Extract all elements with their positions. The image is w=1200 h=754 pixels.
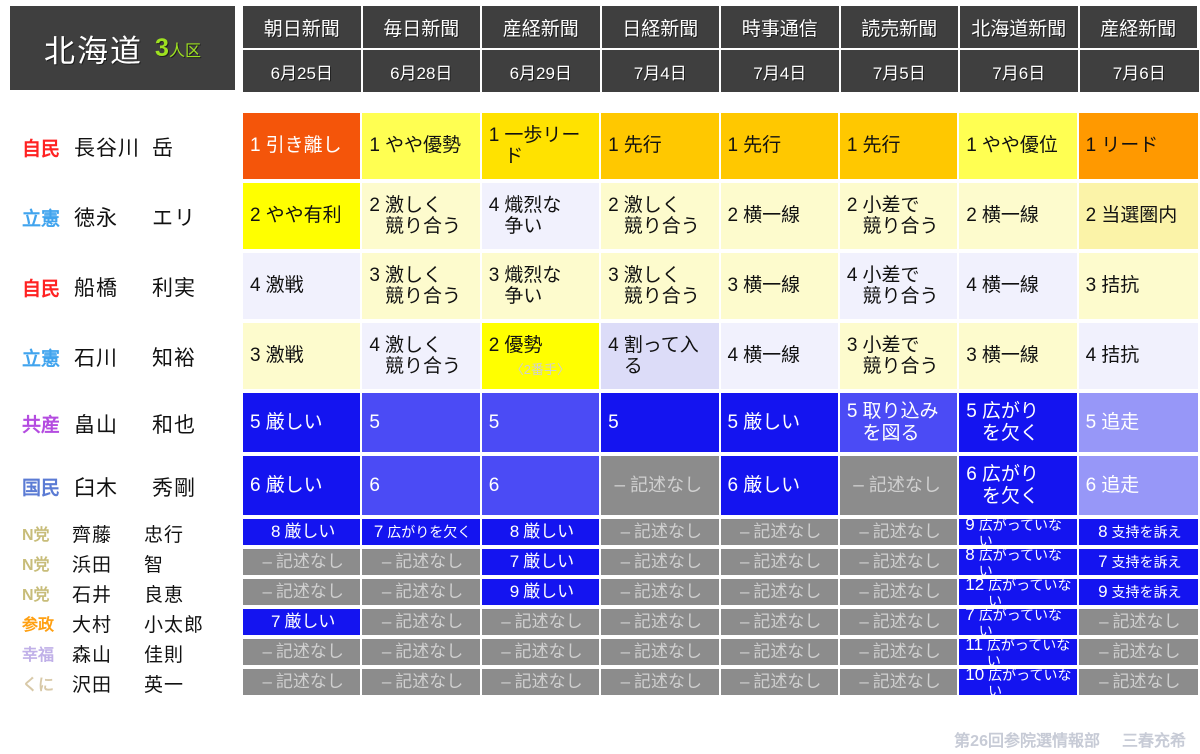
cell-rank: 3	[250, 345, 261, 367]
cell-rank: –	[740, 642, 749, 662]
cell-rank: 1	[847, 135, 858, 157]
cell-rank: –	[740, 552, 749, 572]
poll-cell-r5-c7[interactable]: 6追走	[1079, 456, 1198, 517]
cell-rank: 1	[489, 125, 500, 147]
cell-rank: –	[501, 642, 510, 662]
cell-rank: –	[615, 475, 626, 497]
poll-cell-r9-c3[interactable]: –記述なし	[601, 609, 720, 637]
cell-text: 支持を訴え	[1112, 525, 1182, 541]
cell-text: 広がっていない	[979, 549, 1074, 577]
poll-cell-r10-c2[interactable]: –記述なし	[482, 639, 601, 667]
poll-cell-r7-c2[interactable]: 7厳しい	[482, 549, 601, 577]
cell-text: 記述なし	[395, 612, 463, 631]
cell-text: 支持を訴え	[1112, 585, 1182, 601]
cell-rank: 12	[965, 579, 984, 595]
candidate-givenname: 秀剛	[152, 472, 196, 502]
column-header-date-5: 7月5日	[841, 50, 961, 92]
poll-cell-r6-c3[interactable]: –記述なし	[601, 519, 720, 547]
cell-rank: 2	[847, 195, 858, 217]
poll-cell-r3-c2[interactable]: 2優勢〈2番手〉	[482, 323, 601, 391]
cell-text: 激しく競り合う	[624, 265, 700, 308]
party-label: 自民	[22, 274, 74, 301]
poll-cell-r9-c6[interactable]: 7広がっていない	[959, 609, 1078, 637]
cell-rank: 6	[250, 475, 261, 497]
candidate-givenname: エリ	[152, 202, 196, 232]
cell-text: 横一線	[982, 345, 1039, 366]
cell-rank: 5	[369, 412, 380, 434]
party-label: 幸福	[22, 641, 72, 665]
cell-text: 記述なし	[276, 582, 344, 601]
cell-text: 横一線	[743, 205, 800, 226]
column-header-date-6: 7月6日	[960, 50, 1080, 92]
poll-cell-r4-c2[interactable]: 5	[482, 393, 601, 454]
cell-rank: 4	[847, 265, 858, 287]
column-header-paper-6: 北海道新聞	[960, 6, 1080, 50]
poll-cell-r3-c3[interactable]: 4割って入る	[601, 323, 720, 391]
poll-cell-r7-c4[interactable]: –記述なし	[721, 549, 840, 577]
candidate-givenname: 良恵	[144, 580, 184, 607]
cell-rank: –	[621, 582, 630, 602]
poll-cell-r3-c0[interactable]: 3激戦	[243, 323, 362, 391]
poll-cell-r6-c5[interactable]: –記述なし	[840, 519, 959, 547]
poll-cell-r3-c1[interactable]: 4激しく競り合う	[362, 323, 481, 391]
poll-cell-r5-c0[interactable]: 6厳しい	[243, 456, 362, 517]
poll-cell-r4-c6[interactable]: 5広がりを欠く	[959, 393, 1078, 454]
cell-rank: –	[740, 582, 749, 602]
cell-rank: –	[262, 672, 271, 692]
cell-text: 記述なし	[634, 552, 702, 571]
poll-cell-r4-c1[interactable]: 5	[362, 393, 481, 454]
cell-text: 記述なし	[634, 522, 702, 541]
cell-rank: –	[262, 642, 271, 662]
poll-cell-r8-c2[interactable]: 9厳しい	[482, 579, 601, 607]
cell-text: 記述なし	[634, 672, 702, 691]
cell-rank: 5	[1086, 412, 1097, 434]
cell-rank: –	[262, 582, 271, 602]
poll-cell-r4-c7[interactable]: 5追走	[1079, 393, 1198, 454]
column-header-date-1: 6月28日	[363, 50, 483, 92]
poll-cell-r0-c0[interactable]: 1引き離し	[243, 113, 362, 181]
cell-text: 一歩リード	[504, 125, 596, 168]
column-header-date-3: 7月4日	[602, 50, 722, 92]
cell-text: 先行	[862, 135, 900, 156]
poll-cell-r11-c5[interactable]: –記述なし	[840, 669, 959, 697]
cell-rank: 3	[728, 275, 739, 297]
party-label: 参政	[22, 611, 72, 635]
cell-text: 記述なし	[634, 582, 702, 601]
poll-cell-r6-c2[interactable]: 8厳しい	[482, 519, 601, 547]
poll-cell-r11-c6[interactable]: 10広がっていない	[959, 669, 1078, 697]
poll-cell-r4-c5[interactable]: 5取り込みを図る	[840, 393, 959, 454]
footer-author-label: 三春充希	[1122, 727, 1186, 751]
cell-rank: 5	[728, 412, 739, 434]
poll-cell-r8-c5[interactable]: –記述なし	[840, 579, 959, 607]
cell-rank: –	[1099, 612, 1108, 632]
cell-text: 記述なし	[630, 475, 702, 495]
cell-text: 当選圏内	[1101, 205, 1177, 226]
cell-rank: –	[382, 552, 391, 572]
poll-cell-r8-c1[interactable]: –記述なし	[362, 579, 481, 607]
cell-text: 優勢	[504, 335, 542, 356]
footer-source-label: 第26回参院選情報部	[954, 727, 1100, 751]
column-header-paper-5: 読売新聞	[841, 6, 961, 50]
candidate-surname: 畠山	[74, 409, 152, 439]
candidate-row-1: 立憲徳永エリ	[0, 183, 243, 251]
table-row: 2やや有利2激しく競り合う4熾烈な争い2激しく競り合う2横一線2小差で競り合う2…	[243, 183, 1198, 251]
cell-text: 横一線	[982, 275, 1039, 296]
poll-cell-r10-c1[interactable]: –記述なし	[362, 639, 481, 667]
column-header-paper-0: 朝日新聞	[243, 6, 363, 50]
poll-cell-r2-c6[interactable]: 4横一線	[959, 253, 1078, 321]
cell-rank: 7	[1098, 552, 1107, 572]
cell-rank: 9	[1098, 582, 1107, 602]
poll-cell-r4-c4[interactable]: 5厳しい	[721, 393, 840, 454]
cell-rank: –	[740, 522, 749, 542]
cell-text: 記述なし	[515, 672, 583, 691]
cell-text: 小差で競り合う	[862, 195, 938, 238]
poll-cell-r5-c3[interactable]: –記述なし	[601, 456, 720, 517]
poll-cell-r7-c7[interactable]: 7支持を訴え	[1079, 549, 1198, 577]
poll-cell-r7-c3[interactable]: –記述なし	[601, 549, 720, 577]
cell-text: 記述なし	[753, 642, 821, 661]
cell-rank: 8	[965, 549, 974, 565]
cell-text: 広がりを欠く	[982, 401, 1039, 444]
cell-text: 記述なし	[276, 672, 344, 691]
poll-cell-r0-c2[interactable]: 1一歩リード	[482, 113, 601, 181]
cell-rank: 2	[966, 205, 977, 227]
cell-text: 激しく競り合う	[385, 195, 461, 238]
table-header: 朝日新聞毎日新聞産経新聞日経新聞時事通信読売新聞北海道新聞産経新聞6月25日6月…	[243, 6, 1199, 92]
table-row: 5厳しい5555厳しい5取り込みを図る5広がりを欠く5追走	[243, 393, 1198, 454]
cell-text: 記述なし	[873, 612, 941, 631]
candidate-surname: 徳永	[74, 202, 152, 232]
cell-rank: 6	[489, 475, 500, 497]
poll-cell-r11-c7[interactable]: –記述なし	[1079, 669, 1198, 697]
poll-cell-r5-c6[interactable]: 6広がりを欠く	[959, 456, 1078, 517]
table-row: 7厳しい–記述なし–記述なし–記述なし–記述なし–記述なし7広がっていない–記述…	[243, 609, 1198, 637]
table-row: 6厳しい66–記述なし6厳しい–記述なし6広がりを欠く6追走	[243, 456, 1198, 517]
cell-rank: 1	[728, 135, 739, 157]
cell-rank: 7	[271, 612, 280, 632]
poll-cell-r2-c7[interactable]: 3拮抗	[1079, 253, 1198, 321]
cell-text: 記述なし	[395, 552, 463, 571]
cell-rank: 3	[1086, 275, 1097, 297]
poll-cell-r5-c2[interactable]: 6	[482, 456, 601, 517]
poll-cell-r6-c4[interactable]: –記述なし	[721, 519, 840, 547]
cell-rank: 1	[250, 135, 261, 157]
cell-text: 拮抗	[1101, 275, 1139, 296]
cell-text: やや優勢	[385, 135, 461, 156]
party-label: N党	[22, 551, 72, 575]
cell-rank: 1	[608, 135, 619, 157]
party-label: 立憲	[22, 204, 74, 231]
cell-rank: –	[740, 672, 749, 692]
cell-rank: 4	[489, 195, 500, 217]
cell-text: 広がっていない	[987, 639, 1074, 667]
column-header-paper-7: 産経新聞	[1080, 6, 1200, 50]
cell-text: 記述なし	[395, 642, 463, 661]
cell-text: 追走	[1101, 412, 1139, 433]
candidate-givenname: 和也	[152, 409, 196, 439]
poll-cell-r8-c3[interactable]: –記述なし	[601, 579, 720, 607]
cell-rank: –	[859, 642, 868, 662]
cell-text: 広がっていない	[979, 609, 1074, 637]
cell-text: 激しく競り合う	[385, 335, 461, 378]
poll-cell-r1-c4[interactable]: 2横一線	[721, 183, 840, 251]
poll-cell-r3-c7[interactable]: 4拮抗	[1079, 323, 1198, 391]
poll-cell-r10-c7[interactable]: –記述なし	[1079, 639, 1198, 667]
cell-rank: 2	[489, 335, 500, 357]
cell-text: 記述なし	[395, 672, 463, 691]
cell-subtext: 〈2番手〉	[511, 359, 596, 378]
poll-cell-r1-c5[interactable]: 2小差で競り合う	[840, 183, 959, 251]
column-header-paper-3: 日経新聞	[602, 6, 722, 50]
cell-rank: –	[621, 672, 630, 692]
cell-text: 横一線	[743, 345, 800, 366]
cell-rank: 7	[374, 522, 383, 542]
cell-text: 記述なし	[753, 612, 821, 631]
candidate-surname: 臼木	[74, 472, 152, 502]
poll-cell-r10-c4[interactable]: –記述なし	[721, 639, 840, 667]
poll-cell-r7-c5[interactable]: –記述なし	[840, 549, 959, 577]
poll-cell-r11-c2[interactable]: –記述なし	[482, 669, 601, 697]
poll-cell-r11-c1[interactable]: –記述なし	[362, 669, 481, 697]
poll-cell-r7-c6[interactable]: 8広がっていない	[959, 549, 1078, 577]
cell-text: 支持を訴え	[1112, 555, 1182, 571]
cell-rank: 3	[608, 265, 619, 287]
candidate-givenname: 英一	[144, 670, 184, 697]
poll-cell-r9-c4[interactable]: –記述なし	[721, 609, 840, 637]
cell-rank: –	[621, 612, 630, 632]
cell-rank: 5	[608, 412, 619, 434]
candidate-surname: 長谷川	[74, 132, 152, 162]
cell-text: 記述なし	[753, 672, 821, 691]
poll-cell-r0-c4[interactable]: 1先行	[721, 113, 840, 181]
prefecture-title-block: 北海道 3人区	[10, 6, 235, 90]
party-label: 立憲	[22, 344, 74, 371]
poll-cell-r11-c3[interactable]: –記述なし	[601, 669, 720, 697]
poll-cell-r1-c6[interactable]: 2横一線	[959, 183, 1078, 251]
poll-cell-r1-c1[interactable]: 2激しく競り合う	[362, 183, 481, 251]
poll-cell-r6-c1[interactable]: 7広がりを欠く	[362, 519, 481, 547]
poll-cell-r5-c1[interactable]: 6	[362, 456, 481, 517]
poll-cell-r3-c6[interactable]: 3横一線	[959, 323, 1078, 391]
cell-text: 記述なし	[634, 612, 702, 631]
cell-rank: 2	[608, 195, 619, 217]
poll-cell-r10-c5[interactable]: –記述なし	[840, 639, 959, 667]
poll-cell-r0-c6[interactable]: 1やや優位	[959, 113, 1078, 181]
cell-text: 厳しい	[743, 475, 800, 496]
candidate-row-11: くに沢田英一	[0, 669, 243, 697]
cell-rank: 1	[966, 135, 977, 157]
party-label: N党	[22, 581, 72, 605]
poll-cell-r0-c1[interactable]: 1やや優勢	[362, 113, 481, 181]
poll-cell-r11-c0[interactable]: –記述なし	[243, 669, 362, 697]
candidate-row-4: 共産畠山和也	[0, 393, 243, 454]
cell-rank: –	[382, 612, 391, 632]
candidate-row-8: N党石井良恵	[0, 579, 243, 607]
cell-rank: 2	[728, 205, 739, 227]
candidate-row-9: 参政大村小太郎	[0, 609, 243, 637]
poll-cell-r8-c4[interactable]: –記述なし	[721, 579, 840, 607]
cell-rank: –	[501, 612, 510, 632]
cell-rank: 8	[510, 522, 519, 542]
cell-text: 記述なし	[873, 672, 941, 691]
candidate-givenname: 利実	[152, 272, 196, 302]
party-label: 国民	[22, 473, 74, 500]
candidate-surname: 齊藤	[72, 520, 144, 547]
cell-text: 広がっていない	[988, 669, 1073, 697]
poll-cell-r1-c7[interactable]: 2当選圏内	[1079, 183, 1198, 251]
cell-rank: 10	[965, 669, 984, 685]
party-label: くに	[22, 671, 72, 695]
poll-cell-r9-c1[interactable]: –記述なし	[362, 609, 481, 637]
table-row: –記述なし–記述なし9厳しい–記述なし–記述なし–記述なし12広がっていない9支…	[243, 579, 1198, 607]
candidate-givenname: 小太郎	[144, 610, 204, 637]
cell-rank: –	[859, 552, 868, 572]
cell-text: 熾烈な争い	[504, 265, 561, 308]
poll-cell-r0-c5[interactable]: 1先行	[840, 113, 959, 181]
seat-count-badge: 3人区	[155, 34, 201, 63]
poll-cell-r3-c4[interactable]: 4横一線	[721, 323, 840, 391]
poll-cell-r2-c1[interactable]: 3激しく競り合う	[362, 253, 481, 321]
table-row: 8厳しい7広がりを欠く8厳しい–記述なし–記述なし–記述なし9広がっていない8支…	[243, 519, 1198, 547]
poll-cell-r2-c5[interactable]: 4小差で競り合う	[840, 253, 959, 321]
poll-cell-r5-c4[interactable]: 6厳しい	[721, 456, 840, 517]
cell-text: リード	[1101, 135, 1158, 156]
cell-text: 激戦	[266, 345, 304, 366]
poll-cell-r1-c3[interactable]: 2激しく競り合う	[601, 183, 720, 251]
poll-cell-r2-c0[interactable]: 4激戦	[243, 253, 362, 321]
cell-rank: 5	[847, 401, 858, 423]
cell-text: 激しく競り合う	[385, 265, 461, 308]
cell-rank: 8	[1098, 522, 1107, 542]
candidate-surname: 石井	[72, 580, 144, 607]
poll-cell-r3-c5[interactable]: 3小差で競り合う	[840, 323, 959, 391]
poll-cell-r2-c2[interactable]: 3熾烈な争い	[482, 253, 601, 321]
table-row: –記述なし–記述なし–記述なし–記述なし–記述なし–記述なし11広がっていない–…	[243, 639, 1198, 667]
cell-text: 激しく競り合う	[624, 195, 700, 238]
table-row: 1引き離し1やや優勢1一歩リード1先行1先行1先行1やや優位1リード	[243, 113, 1198, 181]
cell-rank: –	[1099, 672, 1108, 692]
poll-cell-r6-c7[interactable]: 8支持を訴え	[1079, 519, 1198, 547]
cell-text: 記述なし	[276, 552, 344, 571]
candidate-givenname: 岳	[152, 132, 174, 162]
poll-cell-r6-c0[interactable]: 8厳しい	[243, 519, 362, 547]
cell-rank: –	[859, 612, 868, 632]
column-header-date-0: 6月25日	[243, 50, 363, 92]
footer-bar: 第26回参院選情報部 三春充希	[0, 724, 1200, 754]
cell-text: 記述なし	[515, 612, 583, 631]
table-row: –記述なし–記述なし–記述なし–記述なし–記述なし–記述なし10広がっていない–…	[243, 669, 1198, 697]
cell-rank: –	[501, 672, 510, 692]
poll-cell-r2-c3[interactable]: 3激しく競り合う	[601, 253, 720, 321]
table-row: 4激戦3激しく競り合う3熾烈な争い3激しく競り合う3横一線4小差で競り合う4横一…	[243, 253, 1198, 321]
candidate-row-2: 自民船橋利実	[0, 253, 243, 321]
cell-rank: 8	[271, 522, 280, 542]
cell-rank: –	[382, 672, 391, 692]
poll-cell-r2-c4[interactable]: 3横一線	[721, 253, 840, 321]
cell-rank: 5	[250, 412, 261, 434]
cell-rank: 4	[608, 335, 619, 357]
poll-cell-r5-c5[interactable]: –記述なし	[840, 456, 959, 517]
poll-cell-r1-c0[interactable]: 2やや有利	[243, 183, 362, 251]
poll-cell-r9-c5[interactable]: –記述なし	[840, 609, 959, 637]
poll-cell-r0-c7[interactable]: 1リード	[1079, 113, 1198, 181]
cell-text: 記述なし	[753, 522, 821, 541]
poll-cell-r10-c3[interactable]: –記述なし	[601, 639, 720, 667]
cell-rank: 4	[966, 275, 977, 297]
poll-cell-r8-c6[interactable]: 12広がっていない	[959, 579, 1078, 607]
cell-rank: –	[859, 672, 868, 692]
poll-cell-r6-c6[interactable]: 9広がっていない	[959, 519, 1078, 547]
cell-text: 横一線	[982, 205, 1039, 226]
cell-rank: 6	[728, 475, 739, 497]
poll-cell-r0-c3[interactable]: 1先行	[601, 113, 720, 181]
cell-text: 取り込みを図る	[862, 401, 938, 444]
page-title: 北海道	[44, 26, 143, 71]
candidate-row-10: 幸福森山佳則	[0, 639, 243, 667]
party-label: N党	[22, 521, 72, 545]
poll-cell-r11-c4[interactable]: –記述なし	[721, 669, 840, 697]
seat-count-suffix: 人区	[169, 43, 201, 60]
poll-cell-r10-c0[interactable]: –記述なし	[243, 639, 362, 667]
column-header-date-2: 6月29日	[482, 50, 602, 92]
poll-cell-r9-c7[interactable]: –記述なし	[1079, 609, 1198, 637]
cell-text: 厳しい	[284, 612, 335, 631]
cell-rank: 4	[250, 275, 261, 297]
poll-cell-r8-c7[interactable]: 9支持を訴え	[1079, 579, 1198, 607]
cell-rank: –	[621, 552, 630, 572]
cell-rank: 2	[250, 205, 261, 227]
poll-cell-r4-c3[interactable]: 5	[601, 393, 720, 454]
cell-rank: –	[382, 582, 391, 602]
table-row: –記述なし–記述なし7厳しい–記述なし–記述なし–記述なし8広がっていない7支持…	[243, 549, 1198, 577]
cell-rank: –	[262, 552, 271, 572]
poll-cell-r9-c0[interactable]: 7厳しい	[243, 609, 362, 637]
poll-cell-r8-c0[interactable]: –記述なし	[243, 579, 362, 607]
cell-text: 厳しい	[266, 412, 323, 433]
candidate-surname: 船橋	[74, 272, 152, 302]
candidate-givenname: 佳則	[144, 640, 184, 667]
cell-text: 記述なし	[1113, 612, 1181, 631]
column-header-paper-2: 産経新聞	[482, 6, 602, 50]
cell-text: 先行	[624, 135, 662, 156]
cell-rank: 7	[510, 552, 519, 572]
poll-cell-r10-c6[interactable]: 11広がっていない	[959, 639, 1078, 667]
cell-text: 記述なし	[873, 642, 941, 661]
cell-text: 引き離し	[266, 135, 342, 156]
cell-rank: 4	[1086, 345, 1097, 367]
poll-cell-r7-c1[interactable]: –記述なし	[362, 549, 481, 577]
cell-rank: 9	[510, 582, 519, 602]
cell-text: 熾烈な争い	[504, 195, 561, 238]
cell-rank: 1	[369, 135, 380, 157]
candidate-surname: 大村	[72, 610, 144, 637]
cell-rank: 4	[369, 335, 380, 357]
cell-rank: 2	[369, 195, 380, 217]
cell-text: 厳しい	[284, 522, 335, 541]
cell-rank: 6	[369, 475, 380, 497]
poll-cell-r9-c2[interactable]: –記述なし	[482, 609, 601, 637]
cell-text: 記述なし	[395, 582, 463, 601]
candidate-row-0: 自民長谷川岳	[0, 113, 243, 181]
poll-cell-r4-c0[interactable]: 5厳しい	[243, 393, 362, 454]
candidate-row-5: 国民臼木秀剛	[0, 456, 243, 517]
poll-cell-r1-c2[interactable]: 4熾烈な争い	[482, 183, 601, 251]
cell-text: 記述なし	[753, 552, 821, 571]
poll-cell-r7-c0[interactable]: –記述なし	[243, 549, 362, 577]
